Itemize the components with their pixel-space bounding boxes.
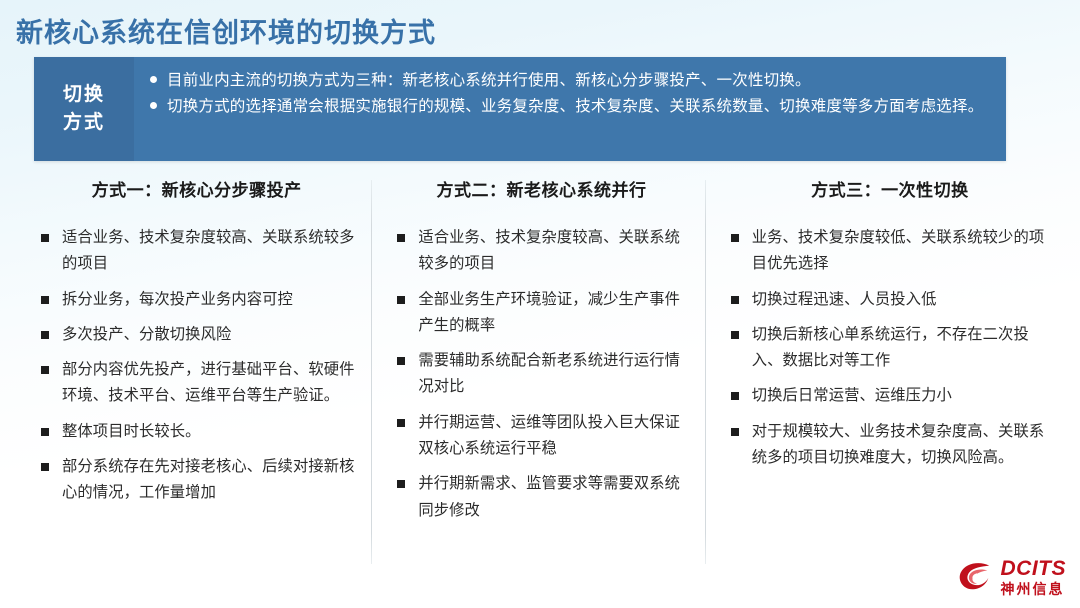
list-item: 并行期新需求、监管要求等需要双系统同步修改 bbox=[394, 471, 688, 524]
logo-cn-text: 神州信息 bbox=[1001, 582, 1067, 596]
list-item-text: 部分内容优先投产，进行基础平台、软硬件环境、技术平台、运维平台等生产验证。 bbox=[62, 361, 355, 404]
bullet-square-icon bbox=[397, 357, 405, 365]
banner-label-line1: 切换 bbox=[63, 81, 105, 109]
list-item: 对于规模较大、业务技术复杂度高、关联系统多的项目切换难度大，切换风险高。 bbox=[728, 419, 1052, 472]
list-item-text: 并行期运营、运维等团队投入巨大保证双核心系统运行平稳 bbox=[418, 414, 680, 457]
bullet-square-icon bbox=[397, 480, 405, 488]
column-method-two: 方式二：新老核心系统并行 适合业务、技术复杂度较高、关联系统较多的项目 全部业务… bbox=[372, 176, 704, 566]
list-item-text: 业务、技术复杂度较低、关联系统较少的项目优先选择 bbox=[752, 229, 1045, 272]
list-item-text: 并行期新需求、监管要求等需要双系统同步修改 bbox=[418, 475, 680, 518]
bullet-square-icon bbox=[731, 428, 739, 436]
list-item-text: 全部业务生产环境验证，减少生产事件产生的概率 bbox=[418, 291, 680, 334]
bullet-square-icon bbox=[397, 419, 405, 427]
column-heading-one: 方式一：新核心分步骤投产 bbox=[38, 176, 355, 201]
list-item: 拆分业务，每次投产业务内容可控 bbox=[38, 287, 355, 313]
list-item-text: 部分系统存在先对接老核心、后续对接新核心的情况，工作量增加 bbox=[62, 458, 355, 501]
bullet-square-icon bbox=[397, 234, 405, 242]
banner-label-line2: 方式 bbox=[63, 109, 105, 137]
bullet-dot-icon bbox=[150, 102, 157, 109]
banner-body: 目前业内主流的切换方式为三种：新老核心系统并行使用、新核心分步骤投产、一次性切换… bbox=[134, 57, 1006, 161]
column-method-three: 方式三：一次性切换 业务、技术复杂度较低、关联系统较少的项目优先选择 切换过程迅… bbox=[706, 176, 1064, 566]
switch-method-banner: 切换 方式 目前业内主流的切换方式为三种：新老核心系统并行使用、新核心分步骤投产… bbox=[34, 57, 1006, 161]
column-heading-three: 方式三：一次性切换 bbox=[728, 176, 1052, 201]
list-item-text: 对于规模较大、业务技术复杂度高、关联系统多的项目切换难度大，切换风险高。 bbox=[752, 423, 1045, 466]
list-item-text: 适合业务、技术复杂度较高、关联系统较多的项目 bbox=[62, 229, 355, 272]
methods-columns: 方式一：新核心分步骤投产 适合业务、技术复杂度较高、关联系统较多的项目 拆分业务… bbox=[16, 176, 1064, 566]
list-item: 切换后日常运营、运维压力小 bbox=[728, 383, 1052, 409]
list-item: 多次投产、分散切换风险 bbox=[38, 322, 355, 348]
list-item-text: 切换后新核心单系统运行，不存在二次投入、数据比对等工作 bbox=[752, 326, 1029, 369]
bullet-square-icon bbox=[397, 296, 405, 304]
list-item-text: 拆分业务，每次投产业务内容可控 bbox=[62, 291, 293, 308]
bullet-square-icon bbox=[41, 331, 49, 339]
list-item: 部分系统存在先对接老核心、后续对接新核心的情况，工作量增加 bbox=[38, 454, 355, 507]
column-heading-two: 方式二：新老核心系统并行 bbox=[394, 176, 688, 201]
list-item-text: 多次投产、分散切换风险 bbox=[62, 326, 231, 343]
bullet-square-icon bbox=[41, 234, 49, 242]
banner-bullet-item: 切换方式的选择通常会根据实施银行的规模、业务复杂度、技术复杂度、关联系统数量、切… bbox=[148, 94, 990, 119]
list-item-text: 切换后日常运营、运维压力小 bbox=[752, 387, 952, 404]
list-item: 全部业务生产环境验证，减少生产事件产生的概率 bbox=[394, 287, 688, 340]
list-item: 适合业务、技术复杂度较高、关联系统较多的项目 bbox=[38, 225, 355, 278]
list-item: 部分内容优先投产，进行基础平台、软硬件环境、技术平台、运维平台等生产验证。 bbox=[38, 357, 355, 410]
list-item: 需要辅助系统配合新老系统进行运行情况对比 bbox=[394, 348, 688, 401]
bullet-square-icon bbox=[41, 428, 49, 436]
list-item-text: 需要辅助系统配合新老系统进行运行情况对比 bbox=[418, 352, 680, 395]
column-method-one: 方式一：新核心分步骤投产 适合业务、技术复杂度较高、关联系统较多的项目 拆分业务… bbox=[16, 176, 371, 566]
bullet-square-icon bbox=[731, 296, 739, 304]
bullet-square-icon bbox=[731, 331, 739, 339]
bullet-square-icon bbox=[41, 463, 49, 471]
dcits-logo: DCITS 神州信息 bbox=[957, 558, 1067, 596]
banner-bullet-item: 目前业内主流的切换方式为三种：新老核心系统并行使用、新核心分步骤投产、一次性切换… bbox=[148, 68, 990, 93]
slide: 新核心系统在信创环境的切换方式 切换 方式 目前业内主流的切换方式为三种：新老核… bbox=[0, 0, 1080, 608]
bullet-square-icon bbox=[41, 296, 49, 304]
banner-label: 切换 方式 bbox=[34, 57, 134, 161]
list-item: 整体项目时长较长。 bbox=[38, 419, 355, 445]
list-item: 并行期运营、运维等团队投入巨大保证双核心系统运行平稳 bbox=[394, 410, 688, 463]
banner-bullet-list: 目前业内主流的切换方式为三种：新老核心系统并行使用、新核心分步骤投产、一次性切换… bbox=[148, 68, 990, 119]
bullet-list-one: 适合业务、技术复杂度较高、关联系统较多的项目 拆分业务，每次投产业务内容可控 多… bbox=[38, 225, 355, 507]
bullet-square-icon bbox=[41, 366, 49, 374]
bullet-square-icon bbox=[731, 234, 739, 242]
list-item-text: 适合业务、技术复杂度较高、关联系统较多的项目 bbox=[418, 229, 680, 272]
list-item: 切换后新核心单系统运行，不存在二次投入、数据比对等工作 bbox=[728, 322, 1052, 375]
banner-bullet-text: 切换方式的选择通常会根据实施银行的规模、业务复杂度、技术复杂度、关联系统数量、切… bbox=[167, 98, 983, 115]
list-item: 适合业务、技术复杂度较高、关联系统较多的项目 bbox=[394, 225, 688, 278]
list-item: 切换过程迅速、人员投入低 bbox=[728, 287, 1052, 313]
logo-en-text: DCITS bbox=[1001, 558, 1067, 579]
list-item: 业务、技术复杂度较低、关联系统较少的项目优先选择 bbox=[728, 225, 1052, 278]
bullet-list-two: 适合业务、技术复杂度较高、关联系统较多的项目 全部业务生产环境验证，减少生产事件… bbox=[394, 225, 688, 524]
list-item-text: 切换过程迅速、人员投入低 bbox=[752, 291, 937, 308]
page-title: 新核心系统在信创环境的切换方式 bbox=[16, 11, 436, 50]
bullet-dot-icon bbox=[150, 76, 157, 83]
list-item-text: 整体项目时长较长。 bbox=[62, 423, 201, 440]
bullet-square-icon bbox=[731, 392, 739, 400]
logo-text-block: DCITS 神州信息 bbox=[1001, 558, 1067, 596]
bullet-list-three: 业务、技术复杂度较低、关联系统较少的项目优先选择 切换过程迅速、人员投入低 切换… bbox=[728, 225, 1052, 471]
dcits-swirl-icon bbox=[957, 560, 995, 594]
banner-bullet-text: 目前业内主流的切换方式为三种：新老核心系统并行使用、新核心分步骤投产、一次性切换… bbox=[167, 72, 811, 89]
